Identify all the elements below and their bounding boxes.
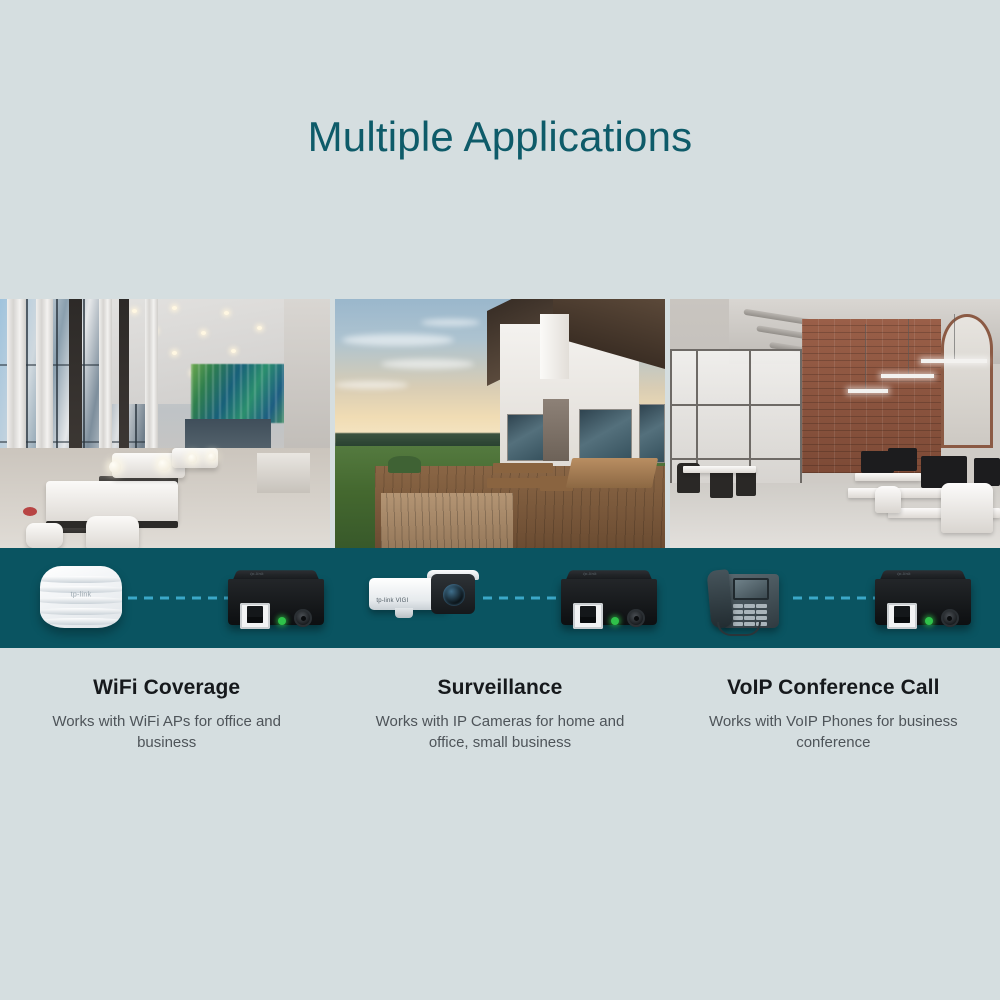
dc-power-jack-icon	[627, 609, 645, 627]
device-pair-camera: tp-link VIGI tp-link	[333, 548, 666, 648]
caption-surveillance: Surveillance Works with IP Cameras for h…	[333, 676, 666, 754]
deck-lounger	[566, 458, 658, 488]
caption-title: VoIP Conference Call	[701, 676, 966, 700]
poe-link-line	[128, 597, 228, 600]
dc-power-jack-icon	[941, 609, 959, 627]
poe-splitter-icon: tp-link	[875, 566, 971, 628]
tp-link-logo: tp-link	[71, 592, 92, 599]
page-title: Multiple Applications	[0, 113, 1000, 161]
poe-link-line	[483, 597, 561, 600]
voip-phone-icon	[703, 560, 789, 634]
rj45-port-icon	[240, 603, 270, 629]
photo-surveillance-house	[335, 299, 665, 548]
application-photo-strip	[0, 299, 1000, 548]
caption-description: Works with WiFi APs for office and busin…	[34, 711, 299, 754]
wifi-access-point-icon: tp-link	[40, 566, 122, 628]
photo-wifi-coverage-lobby	[0, 299, 330, 548]
caption-title: Surveillance	[367, 676, 632, 700]
poe-splitter-icon: tp-link	[228, 566, 324, 628]
ip-camera-icon: tp-link VIGI	[369, 568, 479, 620]
status-led-indicator	[925, 617, 933, 625]
caption-description: Works with IP Cameras for home and offic…	[367, 711, 632, 754]
arched-window	[941, 314, 994, 448]
deck-lower-step	[381, 493, 513, 548]
adapter-tp-link-logo: tp-link	[583, 572, 598, 576]
device-pair-wifi: tp-link tp-link	[0, 548, 333, 648]
status-led-indicator	[278, 617, 286, 625]
adapter-tp-link-logo: tp-link	[896, 572, 911, 576]
photo-voip-office	[670, 299, 1000, 548]
status-led-indicator	[611, 617, 619, 625]
device-diagram-band: tp-link tp-link tp-link VIGI tp-link	[0, 548, 1000, 648]
dc-power-jack-icon	[294, 609, 312, 627]
rj45-port-icon	[887, 603, 917, 629]
rj45-port-icon	[573, 603, 603, 629]
caption-description: Works with VoIP Phones for business conf…	[701, 711, 966, 754]
phone-handset	[706, 569, 733, 629]
lobby-art-wall	[191, 364, 290, 424]
caption-wifi-coverage: WiFi Coverage Works with WiFi APs for of…	[0, 676, 333, 754]
poe-splitter-icon: tp-link	[561, 566, 657, 628]
device-pair-voip: tp-link	[667, 548, 1000, 648]
poe-link-line	[793, 597, 875, 600]
caption-row: WiFi Coverage Works with WiFi APs for of…	[0, 676, 1000, 754]
camera-brand-logo: tp-link VIGI	[376, 598, 408, 604]
phone-cord	[717, 622, 761, 636]
caption-voip-conference-call: VoIP Conference Call Works with VoIP Pho…	[667, 676, 1000, 754]
adapter-tp-link-logo: tp-link	[249, 572, 264, 576]
caption-title: WiFi Coverage	[34, 676, 299, 700]
phone-screen	[733, 578, 769, 600]
